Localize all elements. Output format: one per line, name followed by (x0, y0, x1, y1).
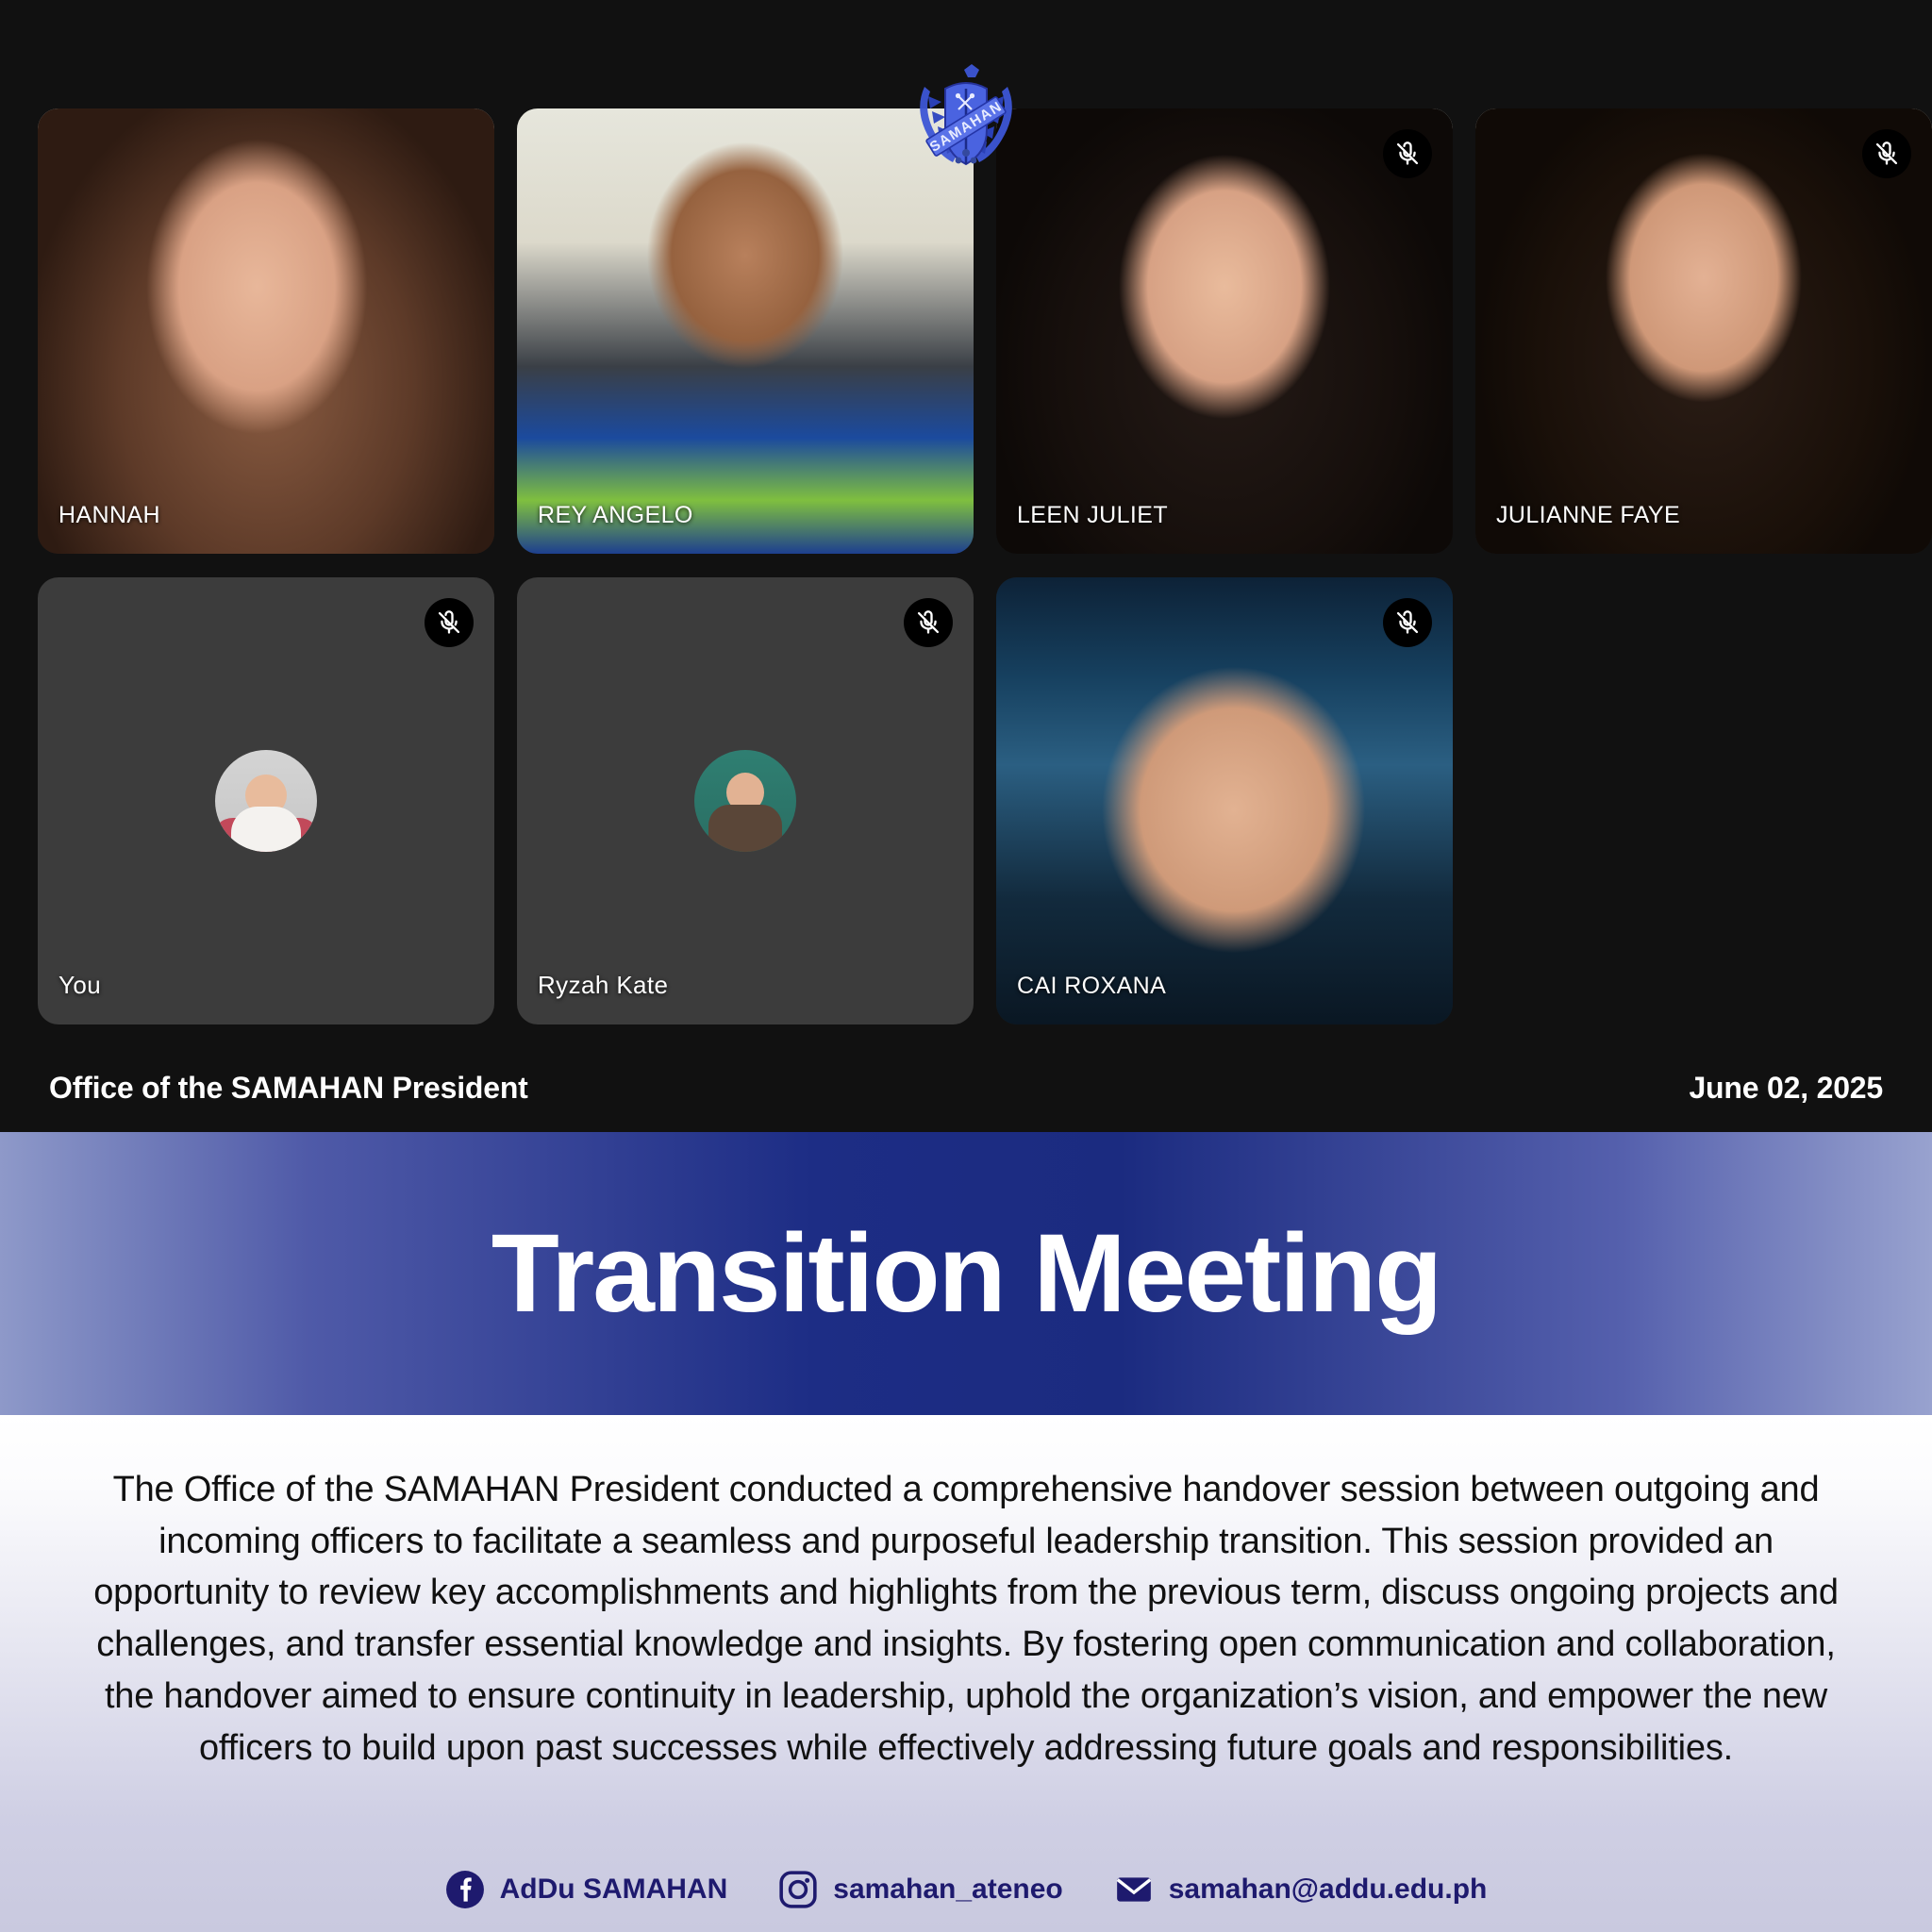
mic-muted-icon[interactable] (904, 598, 953, 647)
office-label: Office of the SAMAHAN President (49, 1071, 528, 1106)
avatar (215, 750, 317, 852)
participant-video (996, 108, 1453, 554)
participant-row-2: You Ryzah Kate (38, 577, 1453, 1024)
mic-muted-icon[interactable] (1383, 129, 1432, 178)
contact-email[interactable]: samahan@addu.edu.ph (1114, 1870, 1488, 1909)
participant-name: Ryzah Kate (538, 971, 668, 1000)
title-banner: Transition Meeting (0, 1132, 1932, 1415)
participant-video (996, 577, 1453, 1024)
poster-root: SAMAHAN HANNAH REY ANGELO (0, 0, 1932, 1932)
avatar (694, 750, 796, 852)
contact-label: samahan@addu.edu.ph (1169, 1874, 1488, 1906)
participant-video (38, 108, 494, 554)
participant-name: HANNAH (58, 502, 160, 529)
contact-instagram[interactable]: samahan_ateneo (778, 1870, 1062, 1909)
participant-tile[interactable]: HANNAH (38, 108, 494, 554)
description-section: The Office of the SAMAHAN President cond… (0, 1415, 1932, 1932)
mic-muted-icon[interactable] (1862, 129, 1911, 178)
meeting-footer: Office of the SAMAHAN President June 02,… (0, 1055, 1932, 1121)
contact-bar: AdDu SAMAHAN samahan_ateneo samahan@addu… (0, 1870, 1932, 1909)
participant-tile[interactable]: LEEN JULIET (996, 108, 1453, 554)
participant-tile[interactable]: CAI ROXANA (996, 577, 1453, 1024)
instagram-icon (778, 1870, 818, 1909)
description-body: The Office of the SAMAHAN President cond… (75, 1464, 1857, 1774)
mic-muted-icon[interactable] (425, 598, 474, 647)
contact-label: samahan_ateneo (833, 1874, 1062, 1906)
participant-name: LEEN JULIET (1017, 502, 1168, 529)
mic-muted-icon[interactable] (1383, 598, 1432, 647)
video-call-section: SAMAHAN HANNAH REY ANGELO (0, 0, 1932, 1132)
contact-label: AdDu SAMAHAN (500, 1874, 728, 1906)
facebook-icon (445, 1870, 485, 1909)
samahan-crest-logo: SAMAHAN (891, 55, 1041, 177)
participant-name: You (58, 971, 101, 1000)
participant-tile[interactable]: Ryzah Kate (517, 577, 974, 1024)
participant-name: CAI ROXANA (1017, 973, 1166, 1000)
email-icon (1114, 1870, 1154, 1909)
event-date: June 02, 2025 (1689, 1071, 1883, 1106)
participant-tile[interactable]: JULIANNE FAYE (1475, 108, 1932, 554)
participant-tile[interactable]: You (38, 577, 494, 1024)
contact-facebook[interactable]: AdDu SAMAHAN (445, 1870, 728, 1909)
page-title: Transition Meeting (491, 1218, 1441, 1329)
participant-video (1475, 108, 1932, 554)
participant-name: REY ANGELO (538, 502, 693, 529)
participant-name: JULIANNE FAYE (1496, 502, 1680, 529)
